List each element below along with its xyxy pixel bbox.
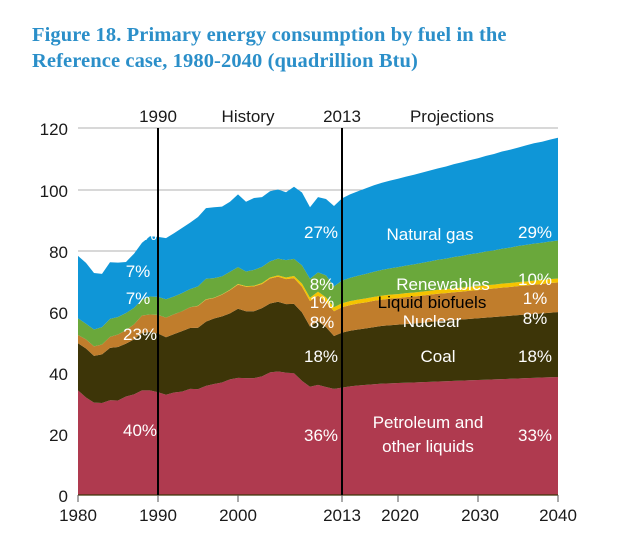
top-annotations: 1990 History 2013 Projections [139,107,494,126]
series-label-liquid-biofuels: Liquid biofuels [378,293,487,312]
pct-2040-coal: 18% [518,347,552,366]
y-axis-labels: 120 100 80 60 40 20 0 [40,120,68,506]
x-tick-label-2030: 2030 [461,506,499,525]
x-axis-labels: 1980 1990 2000 2013 2020 2030 2040 [59,506,577,525]
pct-2040-nuclear: 8% [523,309,548,328]
x-tick-label-1980: 1980 [59,506,97,525]
x-tick-label-2020: 2020 [381,506,419,525]
x-tick-label-1990: 1990 [139,506,177,525]
pct-1990-nuclear: 7% [126,289,151,308]
pct-2040-renewables: 10% [518,270,552,289]
annotation-2013: 2013 [323,107,361,126]
series-label-natural-gas: Natural gas [387,225,474,244]
pct-2013-petroleum: 36% [304,426,338,445]
series-label-nuclear: Nuclear [403,312,462,331]
pct-2040-liquid-biofuels: 1% [523,289,548,308]
series-label-renewables: Renewables [396,275,490,294]
pct-1990-renewables: 7% [126,262,151,281]
pct-2013-liquid-biofuels: 1% [310,293,335,312]
pct-2013-natural-gas: 27% [304,223,338,242]
pct-2040-petroleum: 33% [518,426,552,445]
x-tickmarks [78,495,558,502]
x-tick-label-2000: 2000 [219,506,257,525]
pct-1990-petroleum: 40% [123,421,157,440]
series-label-coal: Coal [421,347,456,366]
series-label-petroleum-line1: Petroleum and [373,413,484,432]
y-tick-label-120: 120 [40,120,68,139]
y-tick-label-100: 100 [40,182,68,201]
pct-2013-coal: 18% [304,347,338,366]
series-label-petroleum-line2: other liquids [382,437,474,456]
chart-svg: 120 100 80 60 40 20 0 1980 1990 2000 201… [0,0,623,553]
y-tick-label-80: 80 [49,243,68,262]
x-tick-label-2013: 2013 [323,506,361,525]
pct-1990-natural-gas: 23% [123,225,157,244]
y-tick-label-0: 0 [59,487,68,506]
pct-2013-nuclear: 8% [310,313,335,332]
y-tick-label-40: 40 [49,365,68,384]
y-tick-label-60: 60 [49,304,68,323]
annotation-1990: 1990 [139,107,177,126]
stacked-area-chart: 120 100 80 60 40 20 0 1980 1990 2000 201… [0,0,623,553]
annotation-history: History [222,107,275,126]
pct-2040-natural-gas: 29% [518,223,552,242]
x-tick-label-2040: 2040 [539,506,577,525]
y-tick-label-20: 20 [49,426,68,445]
pct-2013-renewables: 8% [310,275,335,294]
annotation-projections: Projections [410,107,494,126]
pct-1990-coal: 23% [123,325,157,344]
